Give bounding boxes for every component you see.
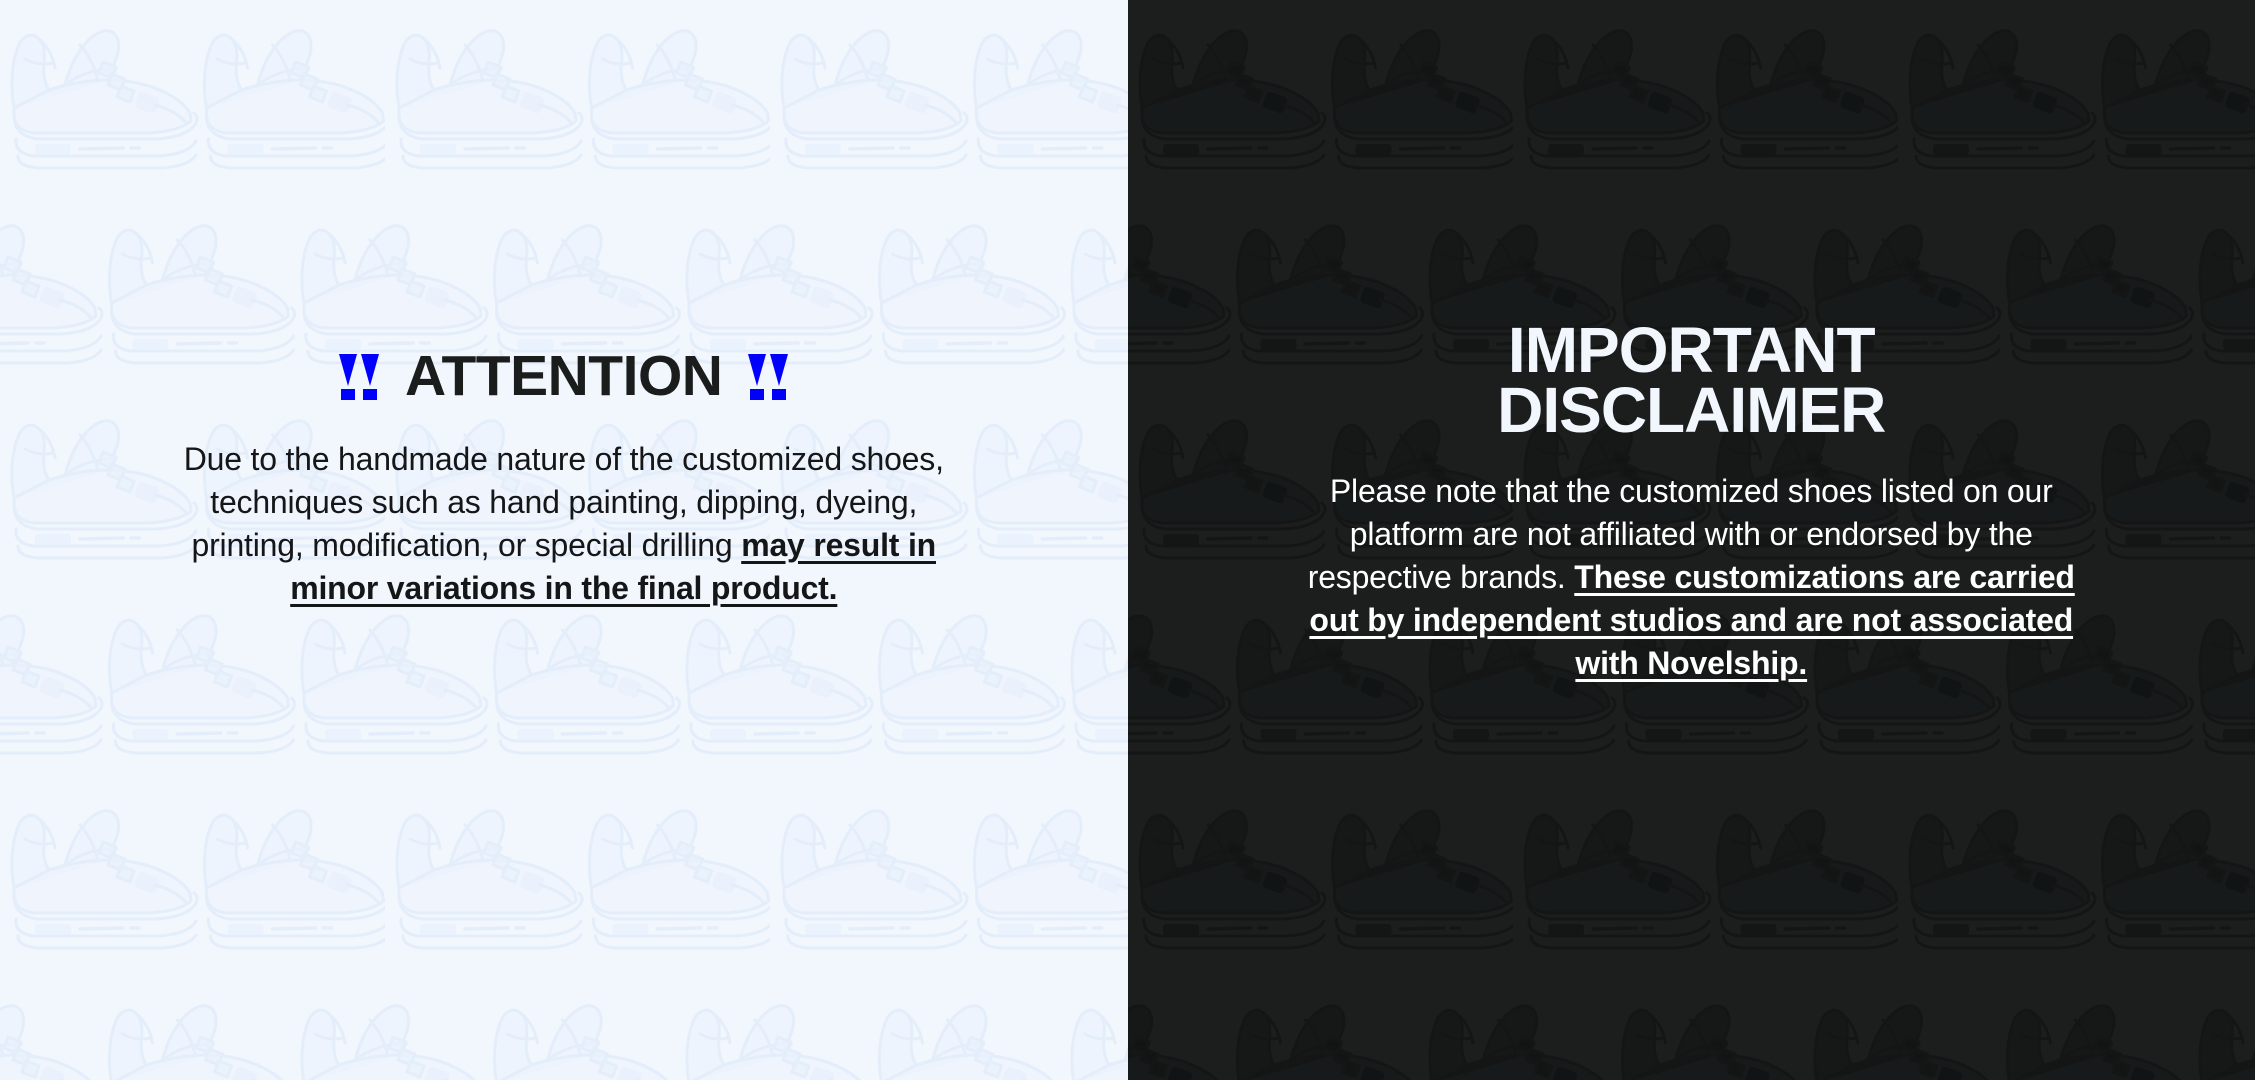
double-exclamation-mark-icon-left bbox=[339, 354, 379, 400]
attention-content: ATTENTION Due to the handmade nature of … bbox=[0, 344, 1128, 610]
disclaimer-heading-line-2: DISCLAIMER bbox=[1128, 380, 2255, 440]
disclaimer-heading: IMPORTANT DISCLAIMER bbox=[1128, 318, 2255, 440]
attention-body: Due to the handmade nature of the custom… bbox=[169, 438, 959, 610]
attention-panel: ATTENTION Due to the handmade nature of … bbox=[0, 0, 1128, 1080]
attention-heading: ATTENTION bbox=[0, 344, 1128, 408]
disclaimer-banner: ATTENTION Due to the handmade nature of … bbox=[0, 0, 2255, 1080]
disclaimer-panel: IMPORTANT DISCLAIMER Please note that th… bbox=[1128, 0, 2255, 1080]
disclaimer-heading-line-1: IMPORTANT bbox=[1128, 320, 2255, 380]
attention-heading-label: ATTENTION bbox=[405, 344, 722, 408]
disclaimer-body: Please note that the customized shoes li… bbox=[1291, 470, 2091, 685]
double-exclamation-mark-icon-right bbox=[748, 354, 788, 400]
disclaimer-content: IMPORTANT DISCLAIMER Please note that th… bbox=[1128, 318, 2255, 685]
